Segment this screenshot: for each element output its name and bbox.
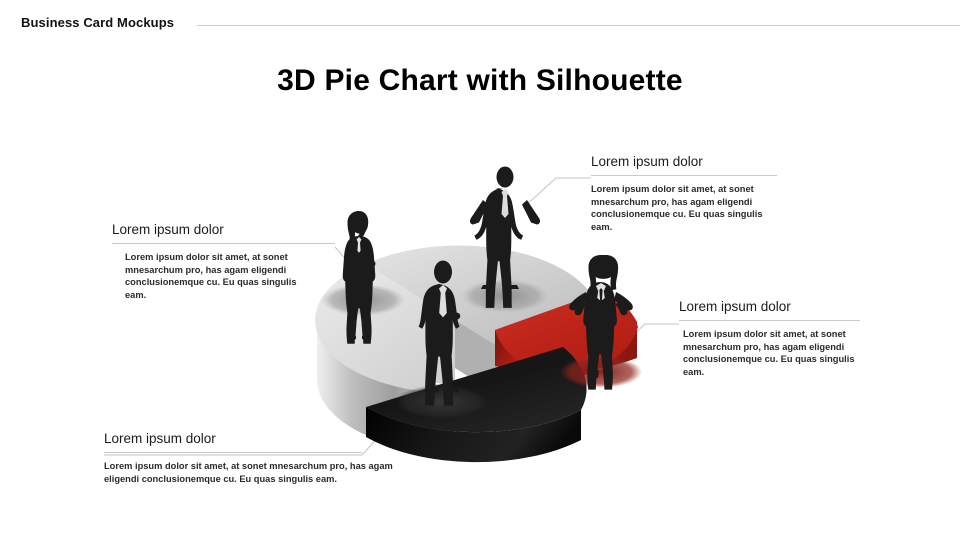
header-divider — [197, 25, 960, 26]
header-title: Business Card Mockups — [21, 15, 174, 30]
leader-line-right — [594, 324, 679, 372]
silhouette-businesswoman-hands-on-hips — [569, 255, 633, 390]
slice-red-extrusion — [495, 322, 637, 372]
silhouette-businessman-arms-crossed — [419, 261, 461, 406]
pie-slice-medium-gray — [366, 246, 591, 396]
slice-medium-gray-inner-wall — [455, 320, 500, 396]
callout-left-body: Lorem ipsum dolor sit amet, at sonet mne… — [125, 251, 305, 301]
shadow-ellipse-red — [560, 356, 642, 388]
callout-top-right[interactable]: Lorem ipsum dolor Lorem ipsum dolor sit … — [591, 153, 777, 233]
shadow-ellipse-black — [395, 385, 489, 419]
slice-red-face-main — [495, 291, 638, 383]
callout-top-right-body: Lorem ipsum dolor sit amet, at sonet mne… — [591, 183, 773, 233]
callout-left[interactable]: Lorem ipsum dolor Lorem ipsum dolor sit … — [112, 221, 335, 301]
leader-line-left — [335, 247, 373, 291]
slice-light-gray-top — [338, 277, 455, 385]
callout-bottom-left[interactable]: Lorem ipsum dolor Lorem ipsum dolor sit … — [104, 430, 362, 485]
callout-right-heading: Lorem ipsum dolor — [679, 298, 860, 315]
page-title: 3D Pie Chart with Silhouette — [0, 64, 960, 98]
callout-right[interactable]: Lorem ipsum dolor Lorem ipsum dolor sit … — [679, 298, 860, 378]
silhouette-businessman-hands-on-hips — [470, 167, 540, 308]
callout-bottom-left-heading: Lorem ipsum dolor — [104, 430, 362, 447]
slide-header: Business Card Mockups — [0, 0, 960, 44]
silhouette-businesswoman-arms-crossed — [343, 211, 376, 344]
slice-medium-gray-face — [366, 246, 591, 348]
callout-top-right-divider — [591, 175, 777, 176]
callout-top-right-heading: Lorem ipsum dolor — [591, 153, 777, 170]
slice-light-gray-side — [320, 330, 455, 443]
pie-slice-black — [366, 347, 587, 462]
slice-red-face — [495, 291, 637, 336]
callout-bottom-left-divider — [104, 452, 362, 453]
pie-slice-red — [495, 291, 638, 383]
slice-black-extrusion — [366, 407, 581, 462]
pie-slice-light-gray-body — [315, 264, 460, 450]
callout-left-heading: Lorem ipsum dolor — [112, 221, 335, 238]
slice-black-face — [366, 347, 587, 432]
pie-slice-light-gray — [320, 277, 455, 443]
slice-light-gray-face — [315, 264, 460, 391]
slice-medium-gray-extrusion — [455, 294, 591, 396]
slice-light-gray-top-main — [338, 277, 455, 385]
callout-left-divider — [112, 243, 335, 244]
shadow-ellipse-back-right — [461, 279, 549, 313]
callout-right-divider — [679, 320, 860, 321]
callout-right-body: Lorem ipsum dolor sit amet, at sonet mne… — [683, 328, 863, 378]
leader-line-top-right — [523, 178, 591, 208]
callout-bottom-left-body: Lorem ipsum dolor sit amet, at sonet mne… — [104, 460, 409, 485]
